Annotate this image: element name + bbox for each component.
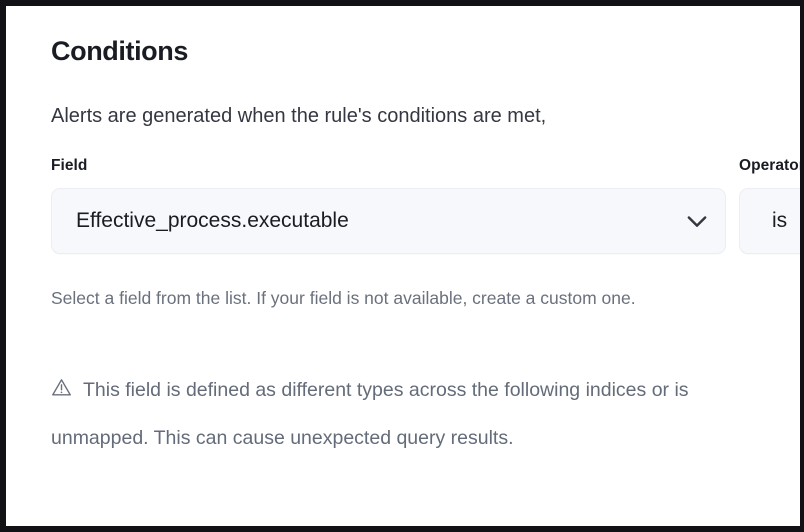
page-viewport: Conditions Alerts are generated when the… xyxy=(6,6,800,526)
field-selected-value: Effective_process.executable xyxy=(52,207,669,235)
warning-triangle-icon xyxy=(51,377,72,398)
operator-selected-value: is xyxy=(740,207,800,235)
operator-label: Operator xyxy=(739,156,800,176)
field-group: Field Effective_process.executable xyxy=(51,156,726,254)
field-helper-text: Select a field from the list. If your fi… xyxy=(51,283,681,314)
page-title: Conditions xyxy=(51,34,188,68)
screenshot-frame: Conditions Alerts are generated when the… xyxy=(0,0,804,532)
operator-group: Operator is xyxy=(739,156,800,254)
operator-select[interactable]: is xyxy=(739,188,800,254)
field-warning-text: This field is defined as different types… xyxy=(51,379,689,449)
field-select[interactable]: Effective_process.executable xyxy=(51,188,726,254)
panel-description: Alerts are generated when the rule's con… xyxy=(51,102,546,130)
field-warning: This field is defined as different types… xyxy=(51,366,699,462)
field-label: Field xyxy=(51,156,726,176)
chevron-down-icon[interactable] xyxy=(669,207,725,235)
